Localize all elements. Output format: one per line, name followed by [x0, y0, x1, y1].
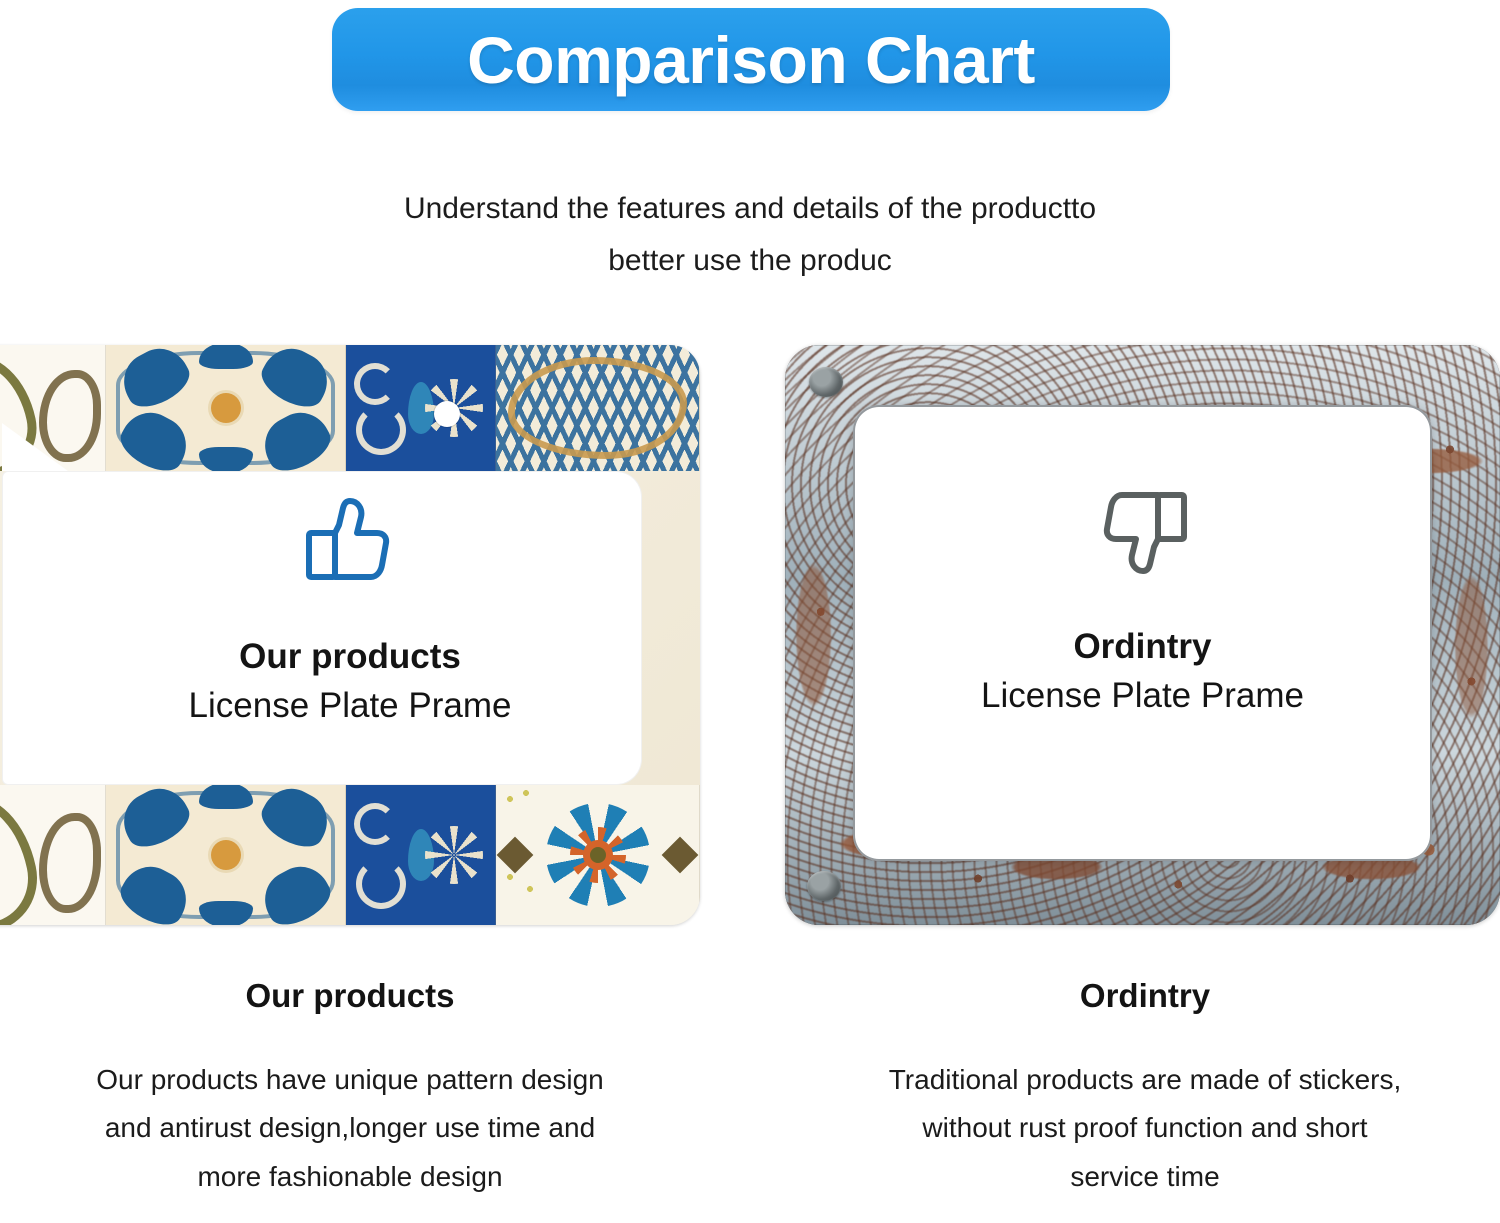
detail-line: and antirust design,longer use time and [0, 1104, 700, 1152]
tile-cap-top [199, 345, 253, 369]
page-title: Comparison Chart [467, 27, 1035, 93]
tile-swirl [354, 803, 396, 845]
comparison-chart-page: Comparison Chart Understand the features… [0, 0, 1500, 1223]
ordinary-overlay: Ordintry License Plate Prame [785, 485, 1500, 718]
thumbs-down-icon [785, 485, 1500, 582]
tile-cap-bottom [199, 447, 253, 471]
tile-olive-scroll [0, 785, 106, 925]
tile-band-top [0, 345, 700, 471]
subtitle-line-1: Understand the features and details of t… [0, 183, 1500, 235]
subtitle: Understand the features and details of t… [0, 183, 1500, 286]
license-plate-frame-rusty: Ordintry License Plate Prame [785, 345, 1500, 925]
tile-swirl [356, 859, 406, 909]
product-column-our-products: Our products License Plate Prame [0, 345, 700, 925]
plate-window-chamfer [2, 423, 68, 471]
tile-navy-medallion [346, 785, 496, 925]
subtitle-line-2: better use the produc [0, 235, 1500, 287]
header-banner: Comparison Chart [332, 8, 1170, 111]
detail-block-ordinary: Ordintry Traditional products are made o… [790, 978, 1500, 1201]
tile-swirl [356, 405, 406, 455]
tile-blue-damask [106, 345, 346, 471]
tile-arabesque [508, 357, 687, 459]
tile-cap-bottom [199, 901, 253, 925]
tile-star [425, 826, 483, 884]
screw-hole-bottom-left [807, 871, 841, 901]
license-plate-frame-decorative: Our products License Plate Prame [0, 345, 700, 925]
detail-line: service time [790, 1153, 1500, 1201]
tile-center-dot [211, 840, 241, 870]
product-column-ordinary: Ordintry License Plate Prame [785, 345, 1500, 925]
our-products-title: Our products [0, 636, 700, 678]
tile-blue-damask [106, 785, 346, 925]
tile-center-dot [211, 393, 241, 423]
tile-star-flower [496, 785, 700, 925]
detail-body-ordinary: Traditional products are made of sticker… [790, 1056, 1500, 1200]
detail-line: Our products have unique pattern design [0, 1056, 700, 1104]
our-products-overlay: Our products License Plate Prame [0, 495, 700, 728]
ordinary-title: Ordintry [785, 626, 1500, 668]
tile-cap-top [199, 785, 253, 809]
tile-swirl [354, 363, 396, 405]
detail-line: more fashionable design [0, 1153, 700, 1201]
our-products-subtitle: License Plate Prame [0, 684, 700, 728]
ordinary-subtitle: License Plate Prame [785, 674, 1500, 718]
tile-core [583, 840, 613, 870]
screw-hole-top-left [809, 367, 843, 397]
detail-heading-our-products: Our products [0, 978, 700, 1014]
detail-line: Traditional products are made of sticker… [790, 1056, 1500, 1104]
detail-block-our-products: Our products Our products have unique pa… [0, 978, 700, 1201]
detail-body-our-products: Our products have unique pattern design … [0, 1056, 700, 1200]
tile-navy-medallion [346, 345, 496, 471]
mounting-hole [434, 401, 460, 427]
tile-band-bottom [0, 785, 700, 925]
detail-heading-ordinary: Ordintry [790, 978, 1500, 1014]
thumbs-up-icon [0, 495, 700, 592]
tile-chevron-arabesque [496, 345, 700, 471]
detail-line: without rust proof function and short [790, 1104, 1500, 1152]
